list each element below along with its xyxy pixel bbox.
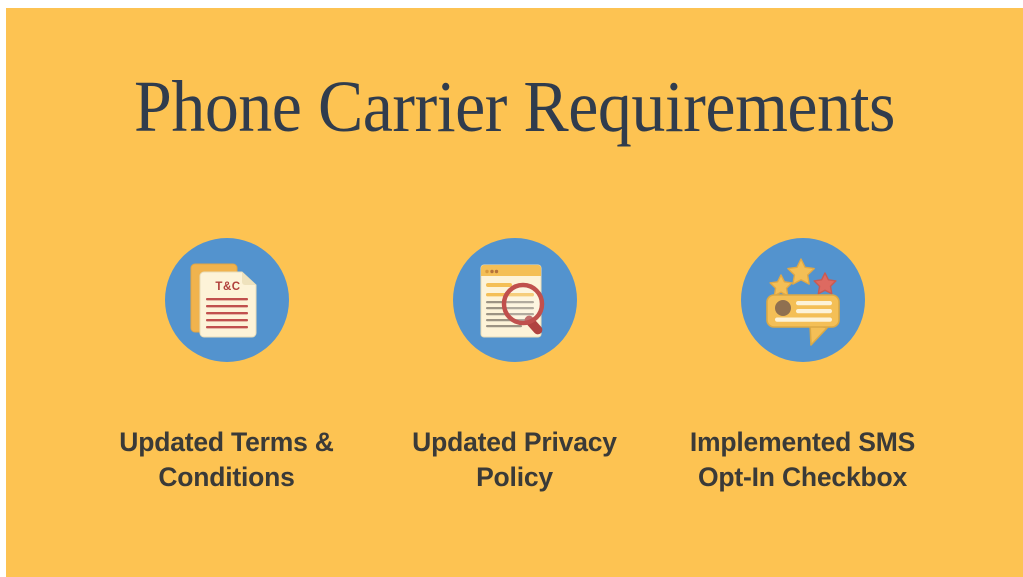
star-right <box>814 273 836 294</box>
terms-and-conditions-document-icon: T&C <box>165 238 289 362</box>
caption-line-1: Updated Privacy <box>370 425 660 460</box>
requirements-row: T&C Updated Terms & Conditions <box>6 238 1023 495</box>
requirement-item-privacy: Updated Privacy Policy <box>371 238 659 495</box>
privacy-policy-icon-circle <box>453 238 577 362</box>
privacy-policy-magnifier-icon <box>453 238 577 362</box>
requirement-caption-terms: Updated Terms & Conditions <box>82 425 372 495</box>
terms-and-conditions-icon-circle: T&C <box>165 238 289 362</box>
page-title: Phone Carrier Requirements <box>42 70 988 143</box>
requirement-caption-sms: Implemented SMS Opt-In Checkbox <box>658 425 948 495</box>
caption-line-2: Policy <box>370 460 660 495</box>
requirement-caption-privacy: Updated Privacy Policy <box>370 425 660 495</box>
caption-line-2: Opt-In Checkbox <box>658 460 948 495</box>
requirement-item-terms: T&C Updated Terms & Conditions <box>83 238 371 495</box>
slide-canvas: Phone Carrier Requirements T&C <box>6 8 1023 577</box>
sms-opt-in-icon-circle <box>741 238 865 362</box>
sms-opt-in-review-bubble-icon <box>741 238 865 362</box>
caption-line-1: Updated Terms & <box>82 425 372 460</box>
star-center <box>787 259 813 284</box>
svg-text:T&C: T&C <box>215 281 240 293</box>
caption-line-1: Implemented SMS <box>658 425 948 460</box>
star-left <box>770 275 792 296</box>
requirement-item-sms: Implemented SMS Opt-In Checkbox <box>659 238 947 495</box>
caption-line-2: Conditions <box>82 460 372 495</box>
